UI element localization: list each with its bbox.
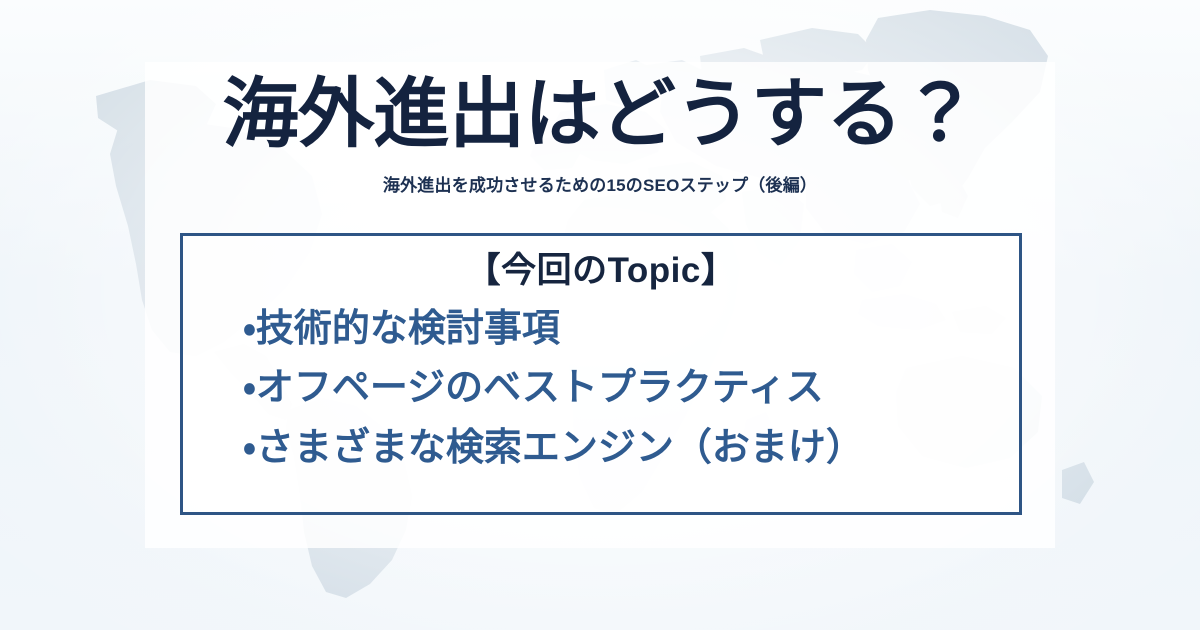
list-item: ・オフページのベストプラクティス [243,363,993,414]
topic-box: 【今回のTopic】 ・技術的な検討事項 ・オフページのベストプラクティス ・さ… [180,233,1022,515]
slide-canvas: 海外進出はどうする？ 海外進出を成功させるための15のSEOステップ（後編） 【… [0,0,1200,630]
topic-box-inner: 【今回のTopic】 ・技術的な検討事項 ・オフページのベストプラクティス ・さ… [183,236,1019,512]
list-item: ・技術的な検討事項 [243,304,993,355]
topic-list: ・技術的な検討事項 ・オフページのベストプラクティス ・さまざまな検索エンジン（… [209,292,993,474]
list-item: ・さまざまな検索エンジン（おまけ） [243,423,993,474]
topic-box-heading: 【今回のTopic】 [209,250,993,292]
